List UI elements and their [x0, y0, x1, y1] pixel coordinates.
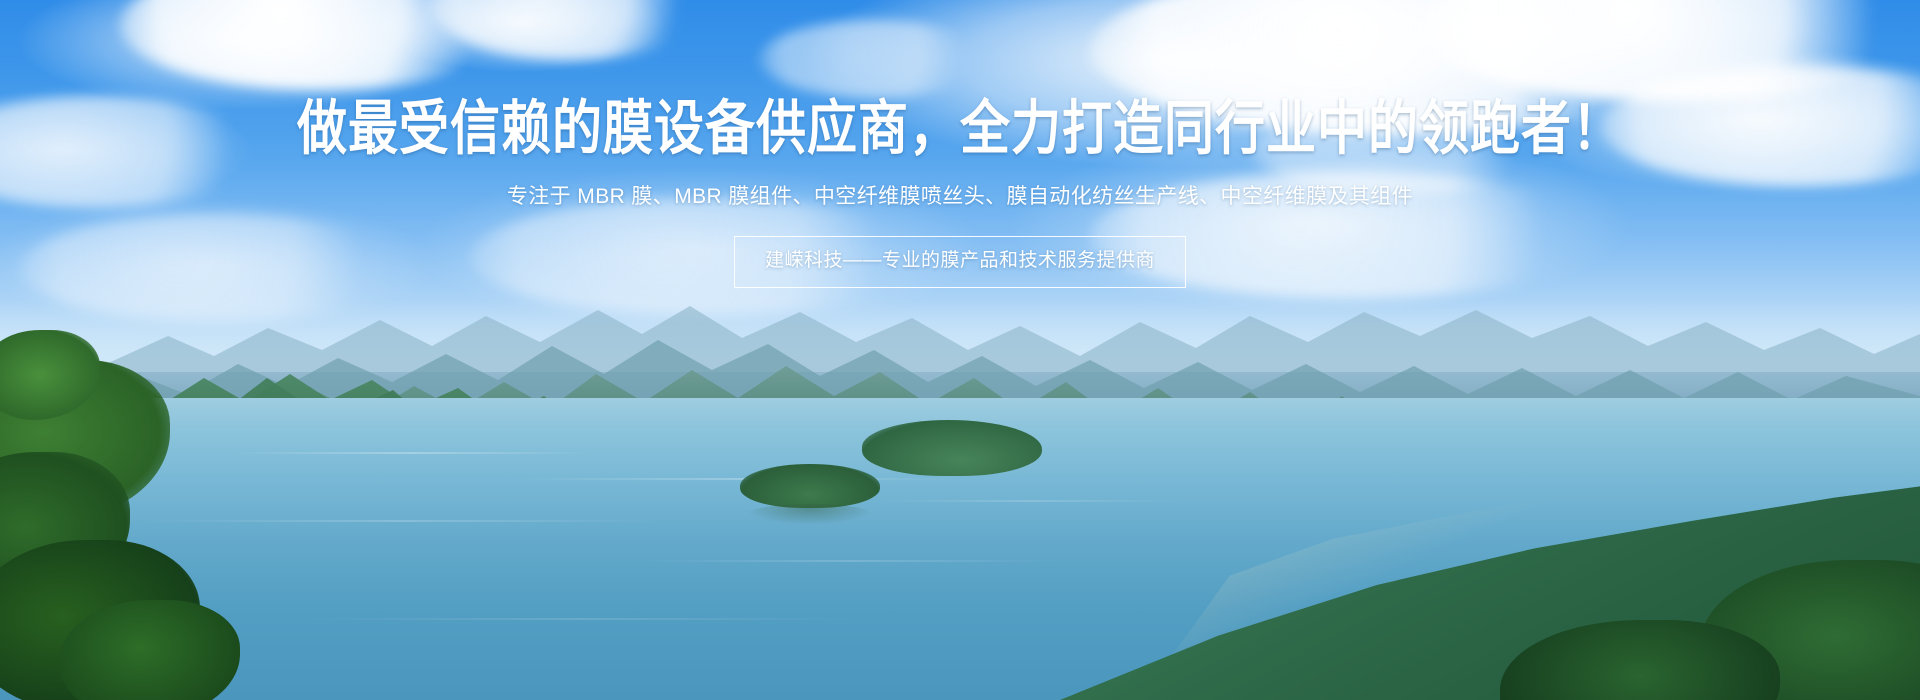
banner-subtitle: 专注于 MBR 膜、MBR 膜组件、中空纤维膜喷丝头、膜自动化纺丝生产线、中空纤… — [507, 182, 1413, 212]
water-ripple — [880, 500, 1180, 502]
banner-headline: 做最受信赖的膜设备供应商，全力打造同行业中的领跑者！ — [297, 92, 1623, 165]
water-ripple — [230, 452, 590, 454]
lake-island — [740, 464, 880, 508]
banner-tagline-box: 建嵘科技——专业的膜产品和技术服务提供商 — [734, 236, 1186, 288]
water-ripple — [300, 618, 860, 620]
lake-island-reflection — [748, 504, 872, 524]
lake-island-small — [862, 420, 1042, 476]
hero-banner: 做最受信赖的膜设备供应商，全力打造同行业中的领跑者！ 专注于 MBR 膜、MBR… — [0, 0, 1920, 700]
banner-tagline-text: 建嵘科技——专业的膜产品和技术服务提供商 — [765, 250, 1155, 271]
water-ripple — [140, 520, 660, 522]
water-ripple — [640, 560, 1060, 562]
water-ripple — [520, 478, 960, 480]
